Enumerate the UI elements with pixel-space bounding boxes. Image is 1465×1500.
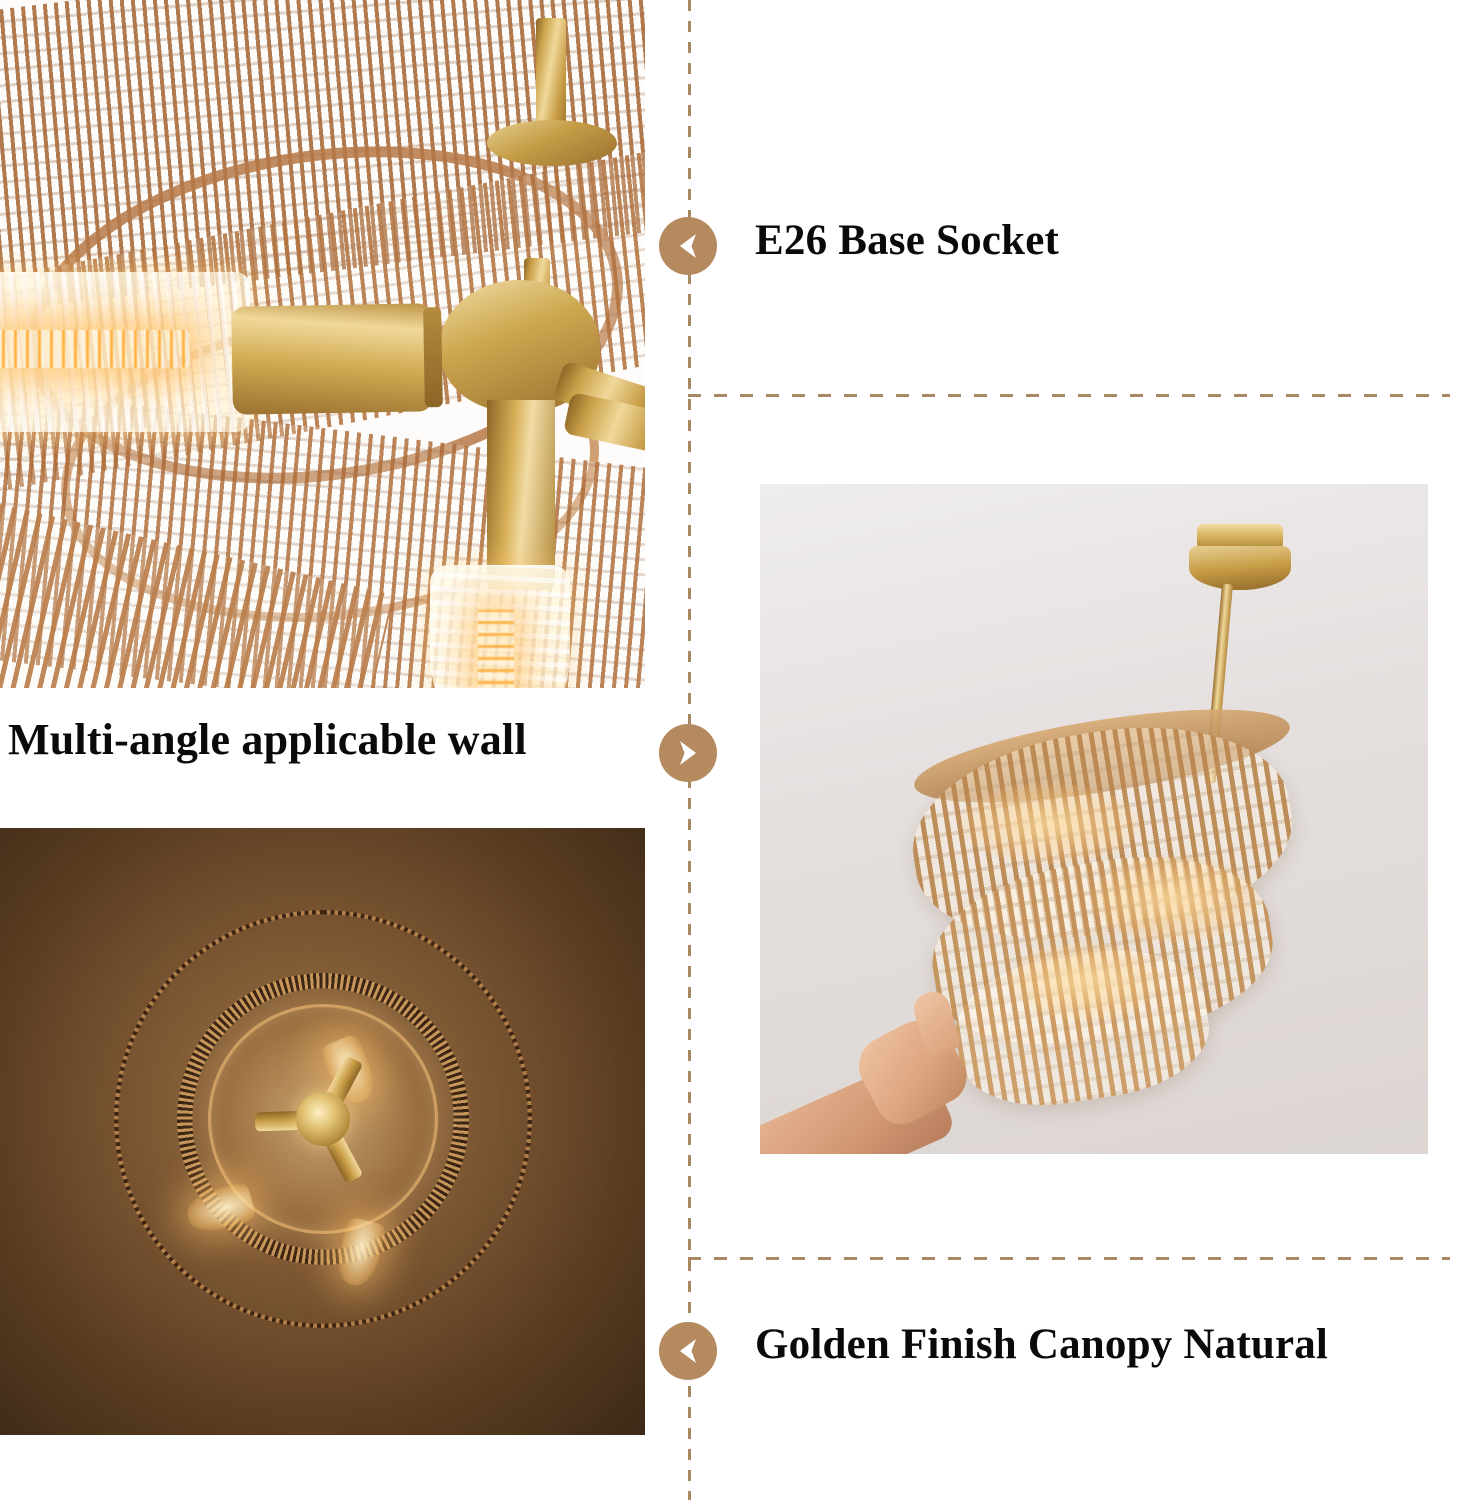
shade-glow-one — [960, 784, 1140, 864]
arrow-left-circle-icon — [659, 1322, 717, 1380]
brass-hub-center — [296, 1092, 350, 1146]
brass-disc-plate — [487, 120, 617, 166]
underside-photo — [0, 828, 645, 1435]
pendant-photo — [760, 484, 1428, 1154]
e26-socket-body — [231, 303, 433, 414]
callout-label-multi-angle-applicable-wall: Multi-angle applicable wall — [8, 714, 527, 765]
hand-tilting-shade — [760, 984, 980, 1154]
connector-divider-bottom — [688, 1257, 1450, 1260]
socket-closeup-photo — [0, 0, 645, 688]
arrow-left-circle-icon — [659, 217, 717, 275]
arrow-right-circle-icon — [659, 724, 717, 782]
callout-label-golden-finish-canopy-natural: Golden Finish Canopy Natural — [755, 1320, 1328, 1369]
connector-divider-top — [688, 394, 1450, 397]
bulb-filament-left — [0, 330, 190, 368]
callout-label-e26-base-socket: E26 Base Socket — [755, 216, 1059, 265]
shade-glow-two — [1090, 856, 1260, 942]
bulb-filament-bottom — [478, 610, 514, 688]
golden-canopy-plate — [1189, 546, 1291, 590]
shade-glow-three — [1010, 942, 1160, 1020]
e26-socket-downstem — [487, 400, 555, 590]
